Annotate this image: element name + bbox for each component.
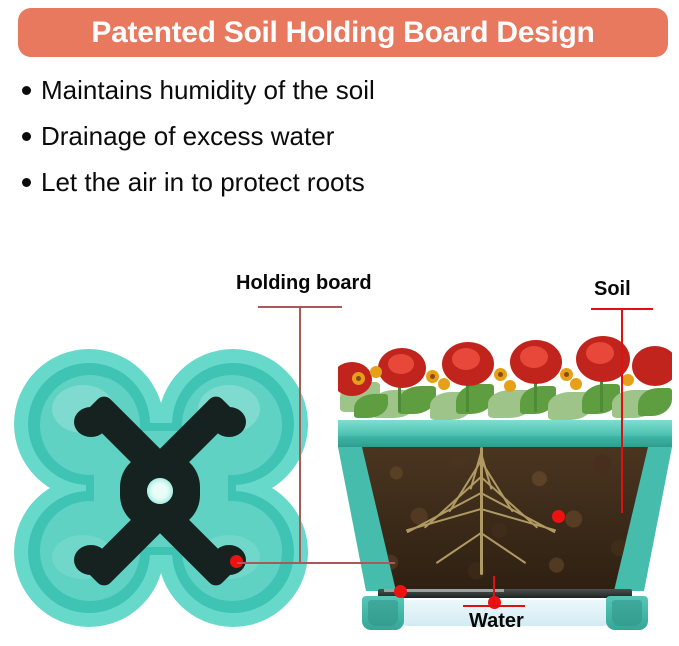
label-holding-board: Holding board [236,272,372,295]
leader-vertical-soil [621,308,623,513]
list-item: Let the air in to protect roots [22,164,642,210]
soil-fill [362,447,648,591]
flower-orange [622,374,634,386]
bullet-dot-icon [22,132,31,141]
leader-vertical-holding-board [299,306,301,563]
feature-text: Drainage of excess water [41,118,334,154]
leader-horizontal-right [299,562,395,564]
holding-board-drain-hole [147,478,173,504]
list-item: Maintains humidity of the soil [22,72,642,118]
header-banner: Patented Soil Holding Board Design [18,8,668,57]
planter-foot-inner [368,600,398,626]
feature-list: Maintains humidity of the soil Drainage … [22,72,642,210]
callout-dot-soil [552,510,565,523]
callout-dot-holding-board-right [394,585,407,598]
holding-board-tip [74,545,108,575]
product-diagram: Holding board Soil Water [0,250,679,646]
label-water: Water [469,610,524,633]
flower-orange [370,366,382,378]
page-title: Patented Soil Holding Board Design [91,16,594,50]
flower-orange [438,378,450,390]
list-item: Drainage of excess water [22,118,642,164]
bullet-dot-icon [22,178,31,187]
holding-board-tip [212,407,246,437]
flower-orange [570,378,582,390]
holding-board-tip [74,407,108,437]
leader-horizontal-left [237,562,301,564]
planter-top-view [8,345,328,635]
feature-text: Maintains humidity of the soil [41,72,375,108]
bullet-dot-icon [22,86,31,95]
leader-vertical-water [493,576,495,606]
label-soil: Soil [594,278,631,301]
infographic-root: Patented Soil Holding Board Design Maint… [0,0,679,646]
planter-foot-inner [612,600,642,626]
flower-red [632,346,672,386]
feature-text: Let the air in to protect roots [41,164,365,200]
flower-orange [504,380,516,392]
